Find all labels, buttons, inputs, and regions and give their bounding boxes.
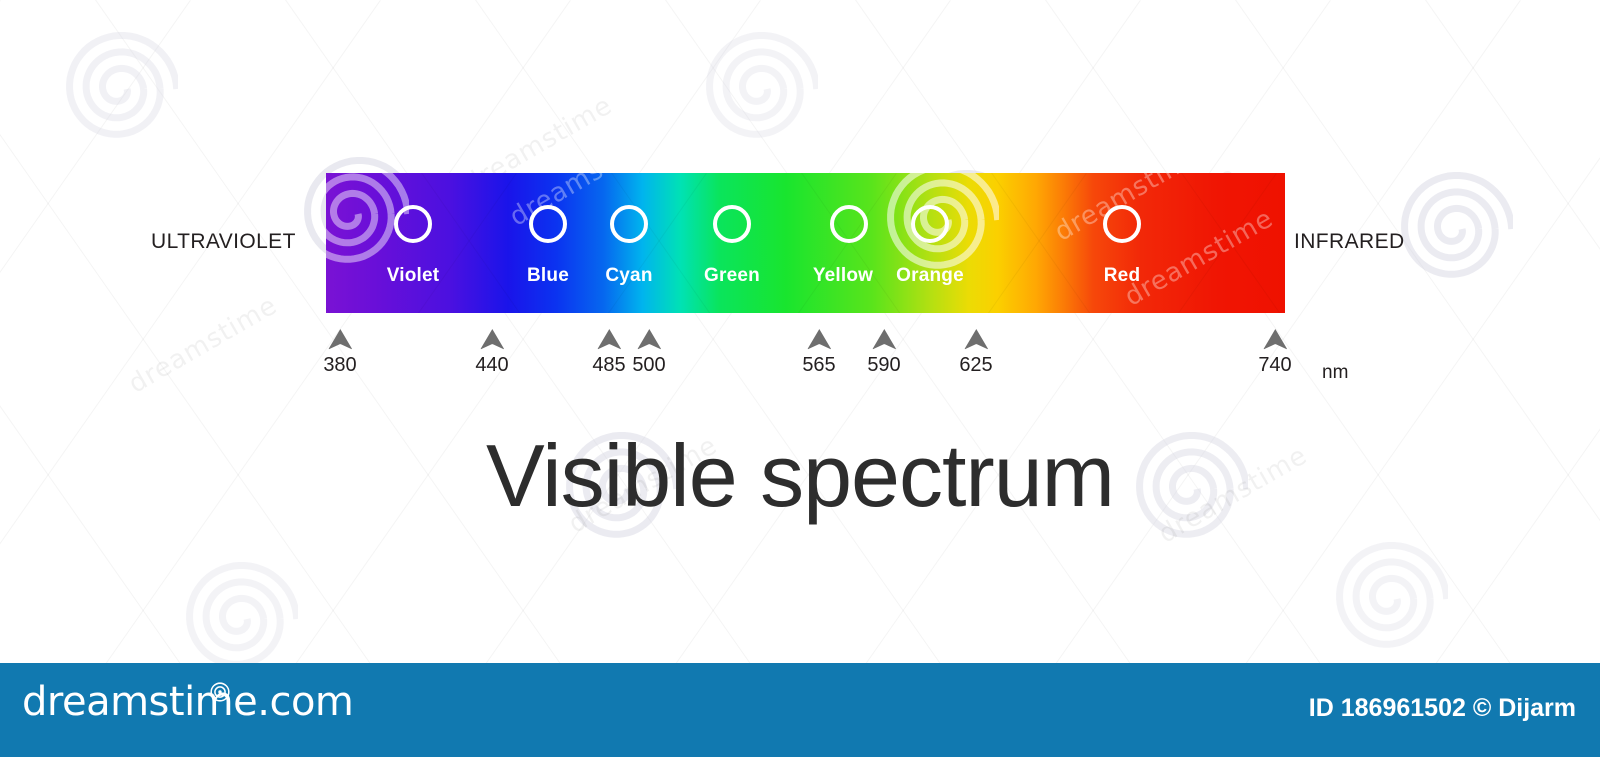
band-label-violet: Violet xyxy=(387,265,440,287)
band-label-green: Green xyxy=(704,265,760,287)
dreamstime-logo-text: dreamstime.com xyxy=(22,682,353,722)
wavelength-tick-590: 590 xyxy=(867,326,900,377)
spectrum-gradient xyxy=(326,173,1285,313)
up-arrow-icon xyxy=(479,326,505,352)
up-arrow-icon xyxy=(327,326,353,352)
tick-value: 485 xyxy=(592,354,625,377)
up-arrow-icon xyxy=(596,326,622,352)
wavelength-tick-740: 740 xyxy=(1258,326,1291,377)
wavelength-tick-625: 625 xyxy=(959,326,992,377)
spectrum-bar: dreamstimedreamstimedreamstime VioletBlu… xyxy=(326,173,1285,313)
illustration-canvas: dreamstimedreamstimedreamstimedreamstime… xyxy=(0,0,1600,757)
band-circle-violet xyxy=(394,205,432,243)
watermark-layer-front xyxy=(0,0,1600,757)
up-arrow-icon xyxy=(871,326,897,352)
image-credit: ID 186961502 © Dijarm xyxy=(1309,694,1576,723)
up-arrow-icon xyxy=(1262,326,1288,352)
band-circle-green xyxy=(713,205,751,243)
up-arrow-icon xyxy=(806,326,832,352)
band-label-yellow: Yellow xyxy=(813,265,873,287)
wavelength-tick-500: 500 xyxy=(632,326,665,377)
tick-value: 440 xyxy=(475,354,508,377)
wavelength-tick-565: 565 xyxy=(802,326,835,377)
band-circle-blue xyxy=(529,205,567,243)
watermark-layer-back: dreamstimedreamstimedreamstimedreamstime… xyxy=(0,0,1600,757)
wavelength-tick-380: 380 xyxy=(323,326,356,377)
up-arrow-icon xyxy=(636,326,662,352)
band-circle-yellow xyxy=(830,205,868,243)
tick-value: 565 xyxy=(802,354,835,377)
tick-value: 625 xyxy=(959,354,992,377)
band-circle-orange xyxy=(911,205,949,243)
wavelength-tick-485: 485 xyxy=(592,326,625,377)
band-label-orange: Orange xyxy=(896,265,964,287)
unit-label: nm xyxy=(1322,362,1348,384)
band-circle-red xyxy=(1103,205,1141,243)
infrared-label: INFRARED xyxy=(1294,230,1405,254)
band-circle-cyan xyxy=(610,205,648,243)
ultraviolet-label: ULTRAVIOLET xyxy=(151,230,296,254)
tick-value: 740 xyxy=(1258,354,1291,377)
page-title: Visible spectrum xyxy=(0,425,1600,527)
tick-value: 590 xyxy=(867,354,900,377)
footer-bar: dreamstime.com ID 186961502 © Dijarm xyxy=(0,663,1600,757)
wavelength-tick-440: 440 xyxy=(475,326,508,377)
tick-value: 380 xyxy=(323,354,356,377)
dreamstime-logo[interactable]: dreamstime.com xyxy=(22,682,353,722)
band-label-cyan: Cyan xyxy=(605,265,652,287)
band-label-red: Red xyxy=(1104,265,1141,287)
tick-value: 500 xyxy=(632,354,665,377)
up-arrow-icon xyxy=(963,326,989,352)
band-label-blue: Blue xyxy=(527,265,569,287)
